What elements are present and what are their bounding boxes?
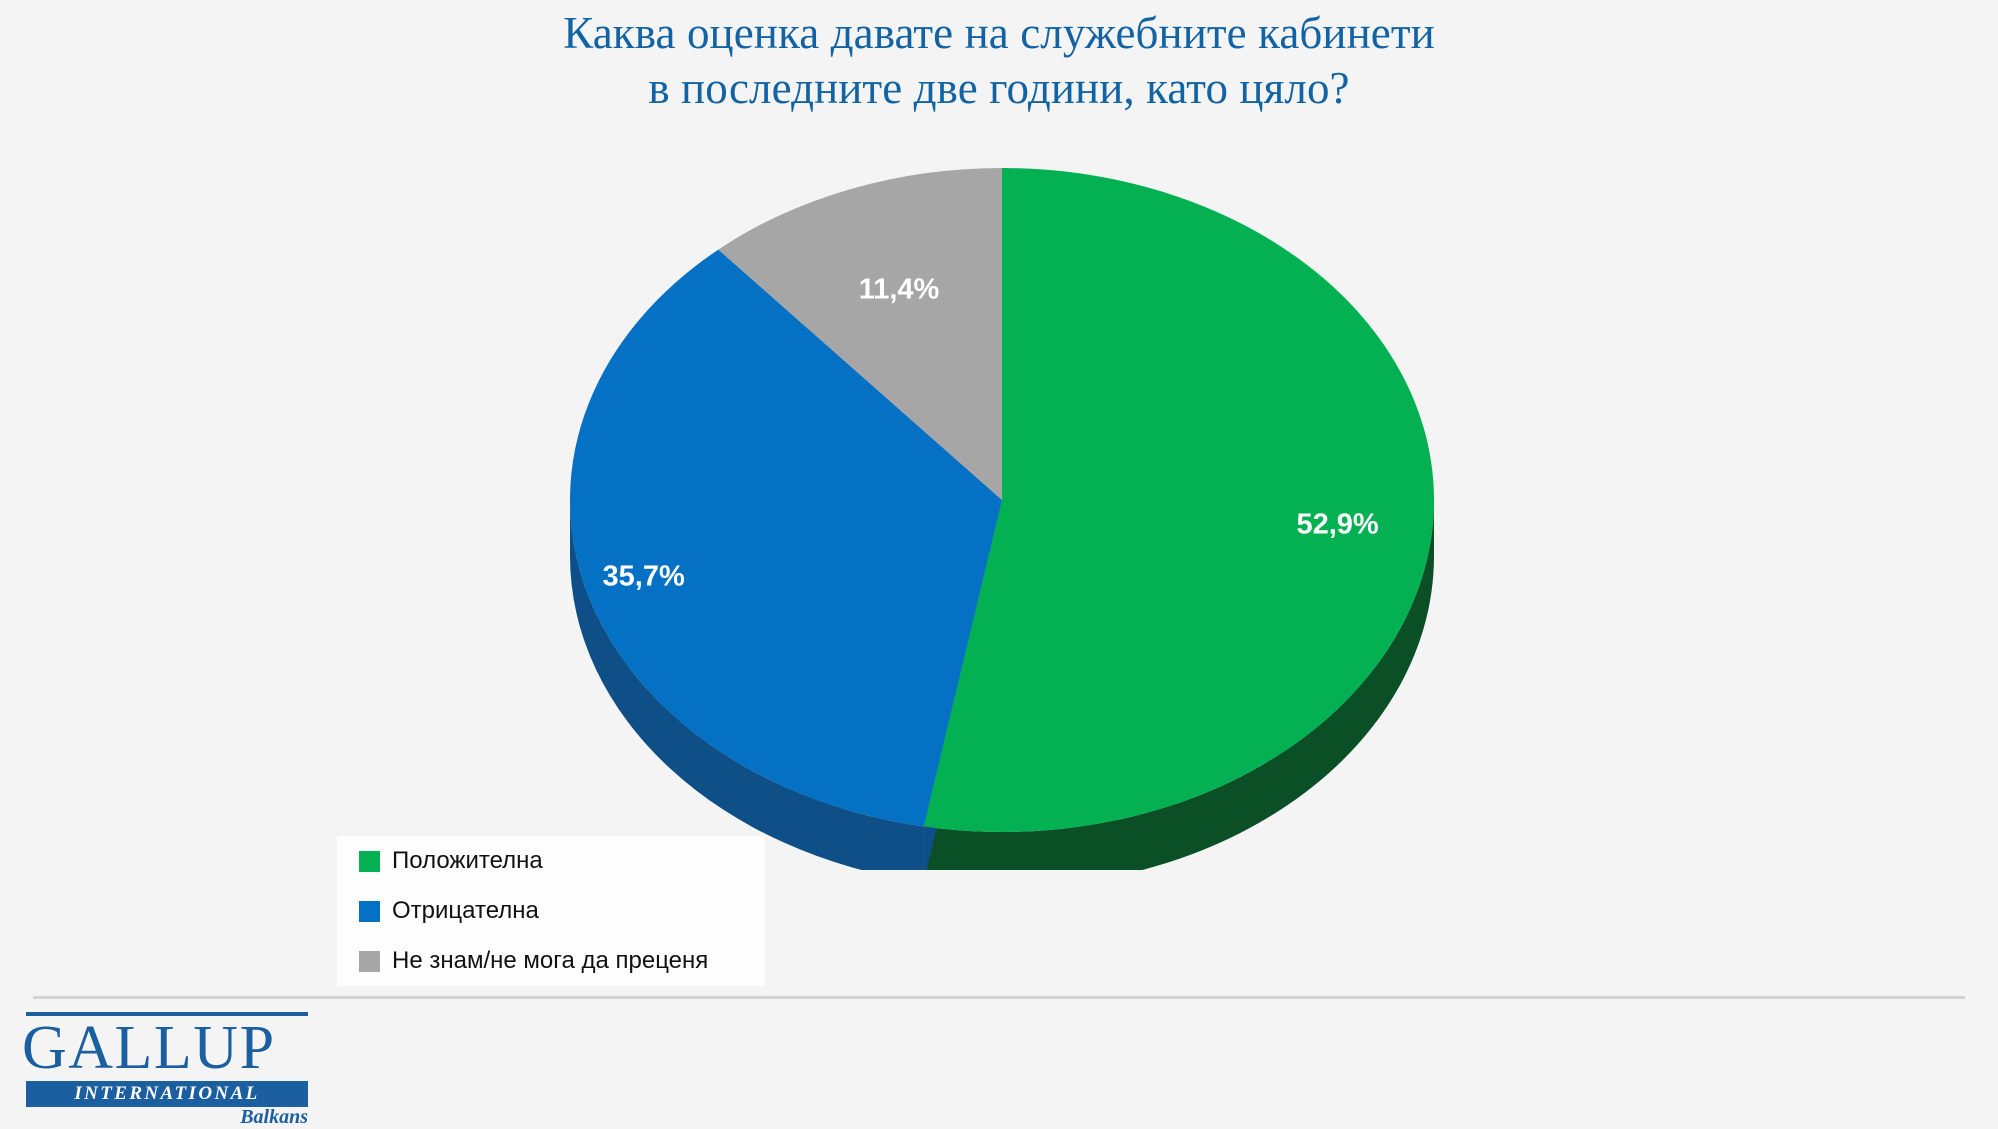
legend-item-dontknow[interactable]: Не знам/не мога да преценя — [337, 936, 765, 986]
legend-item-negative[interactable]: Отрицателна — [337, 886, 765, 936]
pie-slice-label: 11,4% — [859, 274, 940, 306]
logo-international-bar: INTERNATIONAL — [26, 1081, 308, 1107]
slide-canvas: Каква оценка давате на служебните кабине… — [0, 0, 1998, 1123]
legend-label-dontknow: Не знам/не мога да преценя — [392, 947, 708, 975]
legend-swatch-icon-dontknow — [359, 951, 380, 972]
pie-top-faces — [570, 168, 1434, 832]
legend-label-positive: Положителна — [392, 847, 543, 875]
legend-item-positive[interactable]: Положителна — [337, 836, 765, 886]
legend-swatch-icon-positive — [359, 851, 380, 872]
logo-international-text: INTERNATIONAL — [26, 1081, 308, 1107]
logo-region-text: Balkans — [22, 1106, 308, 1129]
legend-label-negative: Отрицателна — [392, 897, 539, 925]
gallup-logo: GALLUP INTERNATIONAL Balkans — [22, 1012, 312, 1120]
footer-divider — [33, 996, 1965, 999]
chart-legend: Положителна Отрицателна Не знам/не мога … — [337, 836, 765, 986]
pie-chart: 52,9%35,7%11,4% — [540, 130, 1480, 870]
logo-wordmark: GALLUP — [22, 1014, 312, 1082]
pie-slice-label: 35,7% — [603, 560, 685, 592]
pie-chart-svg: 52,9%35,7%11,4% — [540, 130, 1480, 870]
legend-swatch-icon-negative — [359, 901, 380, 922]
pie-slice-label: 52,9% — [1296, 509, 1378, 541]
page-title: Каква оценка давате на служебните кабине… — [0, 6, 1998, 116]
